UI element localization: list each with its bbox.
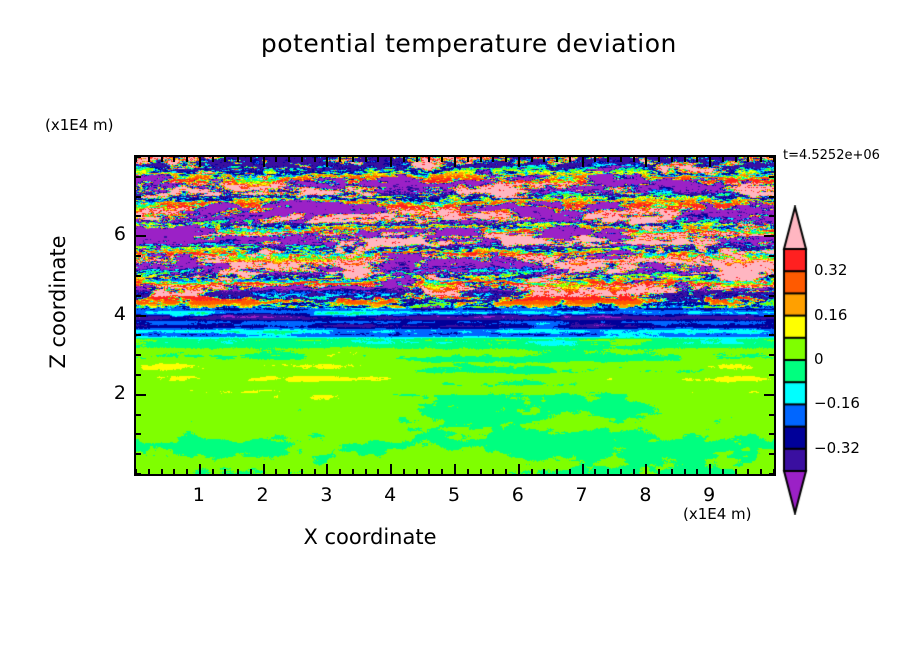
axis-tick xyxy=(633,157,635,162)
colorbar-tick-label: 0 xyxy=(814,350,824,368)
axis-tick xyxy=(505,469,507,474)
axis-tick xyxy=(377,469,379,474)
axis-tick xyxy=(161,157,163,162)
y-tick-label: 2 xyxy=(86,382,126,404)
axis-tick xyxy=(199,157,201,167)
axis-tick xyxy=(136,354,141,356)
axis-tick xyxy=(365,157,367,162)
x-tick-label: 8 xyxy=(625,484,665,506)
axis-tick xyxy=(416,157,418,162)
y-axis-title: Z coordinate xyxy=(46,182,70,422)
axis-tick xyxy=(769,414,774,416)
axis-tick xyxy=(645,464,647,474)
axis-tick xyxy=(148,157,150,162)
axis-tick xyxy=(594,157,596,162)
x-tick-label: 5 xyxy=(434,484,474,506)
axis-tick xyxy=(531,469,533,474)
axis-tick xyxy=(136,453,141,455)
axis-tick xyxy=(467,469,469,474)
axis-tick xyxy=(556,469,558,474)
axis-tick xyxy=(365,469,367,474)
axis-tick xyxy=(173,157,175,162)
axis-tick xyxy=(224,469,226,474)
axis-tick xyxy=(696,469,698,474)
axis-tick xyxy=(186,157,188,162)
axis-tick xyxy=(671,157,673,162)
axis-tick xyxy=(301,469,303,474)
axis-tick xyxy=(582,464,584,474)
axis-tick xyxy=(505,157,507,162)
axis-tick xyxy=(620,157,622,162)
axis-tick xyxy=(339,469,341,474)
axis-tick xyxy=(199,464,201,474)
axis-tick xyxy=(403,469,405,474)
axis-tick xyxy=(301,157,303,162)
axis-tick xyxy=(263,157,265,167)
axis-tick xyxy=(735,157,737,162)
axis-tick xyxy=(275,157,277,162)
temperature-field-canvas xyxy=(136,157,774,474)
axis-tick xyxy=(314,157,316,162)
axis-tick xyxy=(569,157,571,162)
axis-tick xyxy=(658,469,660,474)
axis-tick xyxy=(136,473,141,475)
contour-plot-area xyxy=(134,155,776,476)
axis-tick xyxy=(769,433,774,435)
axis-tick xyxy=(136,275,141,277)
axis-tick xyxy=(769,215,774,217)
axis-tick xyxy=(275,469,277,474)
axis-tick xyxy=(136,255,141,257)
axis-tick xyxy=(709,157,711,167)
axis-tick xyxy=(582,157,584,167)
axis-tick xyxy=(769,453,774,455)
axis-tick xyxy=(161,469,163,474)
axis-tick xyxy=(148,469,150,474)
y-tick-label: 4 xyxy=(86,303,126,325)
axis-tick xyxy=(607,469,609,474)
axis-tick xyxy=(543,157,545,162)
axis-tick xyxy=(769,334,774,336)
axis-tick xyxy=(390,157,392,167)
axis-tick xyxy=(769,473,774,475)
axis-tick xyxy=(467,157,469,162)
axis-tick xyxy=(263,464,265,474)
axis-tick xyxy=(747,157,749,162)
axis-tick xyxy=(480,469,482,474)
axis-tick xyxy=(722,469,724,474)
axis-tick xyxy=(543,469,545,474)
x-axis-unit-label: (x1E4 m) xyxy=(683,505,752,523)
axis-tick xyxy=(607,157,609,162)
axis-tick xyxy=(709,464,711,474)
axis-tick xyxy=(224,157,226,162)
chart-title-text: potential temperature deviation xyxy=(261,29,677,58)
axis-tick xyxy=(288,157,290,162)
axis-tick xyxy=(428,157,430,162)
axis-tick xyxy=(136,414,141,416)
axis-tick xyxy=(518,464,520,474)
axis-tick xyxy=(288,469,290,474)
axis-tick xyxy=(416,469,418,474)
axis-tick xyxy=(769,295,774,297)
x-tick-label: 9 xyxy=(689,484,729,506)
colorbar-tick-label: 0.32 xyxy=(814,261,847,279)
axis-tick xyxy=(769,374,774,376)
axis-tick xyxy=(441,469,443,474)
axis-tick xyxy=(569,469,571,474)
colorbar-tick-label: 0.16 xyxy=(814,306,847,324)
axis-tick xyxy=(237,469,239,474)
axis-tick xyxy=(633,469,635,474)
colorbar xyxy=(780,205,810,515)
axis-tick xyxy=(492,469,494,474)
axis-tick xyxy=(136,374,141,376)
axis-tick xyxy=(136,334,141,336)
axis-tick xyxy=(722,157,724,162)
x-tick-label: 2 xyxy=(243,484,283,506)
axis-tick xyxy=(136,176,141,178)
axis-tick xyxy=(173,469,175,474)
axis-tick xyxy=(594,469,596,474)
axis-tick xyxy=(212,469,214,474)
axis-tick xyxy=(250,469,252,474)
x-tick-label: 3 xyxy=(306,484,346,506)
axis-tick xyxy=(480,157,482,162)
axis-tick xyxy=(645,157,647,167)
x-tick-label: 1 xyxy=(179,484,219,506)
axis-tick xyxy=(250,157,252,162)
axis-tick xyxy=(769,275,774,277)
axis-tick xyxy=(556,157,558,162)
axis-tick xyxy=(760,469,762,474)
axis-tick xyxy=(237,157,239,162)
axis-tick xyxy=(454,157,456,167)
axis-tick xyxy=(428,469,430,474)
axis-tick xyxy=(769,354,774,356)
colorbar-tick-label: −0.16 xyxy=(814,394,860,412)
axis-tick xyxy=(136,295,141,297)
axis-tick xyxy=(136,196,141,198)
axis-tick xyxy=(769,176,774,178)
axis-tick xyxy=(136,235,146,237)
axis-tick xyxy=(186,469,188,474)
axis-tick xyxy=(136,433,141,435)
axis-tick xyxy=(764,315,774,317)
axis-tick xyxy=(764,394,774,396)
axis-tick xyxy=(377,157,379,162)
axis-tick xyxy=(441,157,443,162)
axis-tick xyxy=(531,157,533,162)
axis-tick xyxy=(403,157,405,162)
axis-tick xyxy=(136,315,146,317)
axis-tick xyxy=(769,255,774,257)
timestamp-annotation: t=4.5252e+06 xyxy=(783,148,880,163)
axis-tick xyxy=(339,157,341,162)
axis-tick xyxy=(136,215,141,217)
axis-tick xyxy=(620,469,622,474)
axis-tick xyxy=(314,469,316,474)
axis-tick xyxy=(326,157,328,167)
axis-tick xyxy=(747,469,749,474)
axis-tick xyxy=(658,157,660,162)
x-tick-label: 7 xyxy=(562,484,602,506)
y-axis-unit-label: (x1E4 m) xyxy=(45,116,114,134)
axis-tick xyxy=(671,469,673,474)
axis-tick xyxy=(390,464,392,474)
axis-tick xyxy=(735,469,737,474)
axis-tick xyxy=(136,156,141,158)
axis-tick xyxy=(769,196,774,198)
axis-tick xyxy=(684,157,686,162)
axis-tick xyxy=(212,157,214,162)
axis-tick xyxy=(684,469,686,474)
x-axis-title: X coordinate xyxy=(0,525,740,549)
x-tick-label: 4 xyxy=(370,484,410,506)
colorbar-swatches xyxy=(780,205,810,515)
axis-tick xyxy=(518,157,520,167)
axis-tick xyxy=(352,157,354,162)
axis-tick xyxy=(760,157,762,162)
y-tick-label: 6 xyxy=(86,223,126,245)
axis-tick xyxy=(352,469,354,474)
axis-tick xyxy=(492,157,494,162)
axis-tick xyxy=(454,464,456,474)
x-tick-label: 6 xyxy=(498,484,538,506)
figure-root: potential temperature deviation (x1E4 m)… xyxy=(0,0,904,654)
axis-tick xyxy=(764,235,774,237)
colorbar-tick-label: −0.32 xyxy=(814,439,860,457)
chart-title: potential temperature deviation xyxy=(0,0,904,87)
axis-tick xyxy=(136,394,146,396)
axis-tick xyxy=(326,464,328,474)
axis-tick xyxy=(696,157,698,162)
axis-tick xyxy=(769,156,774,158)
